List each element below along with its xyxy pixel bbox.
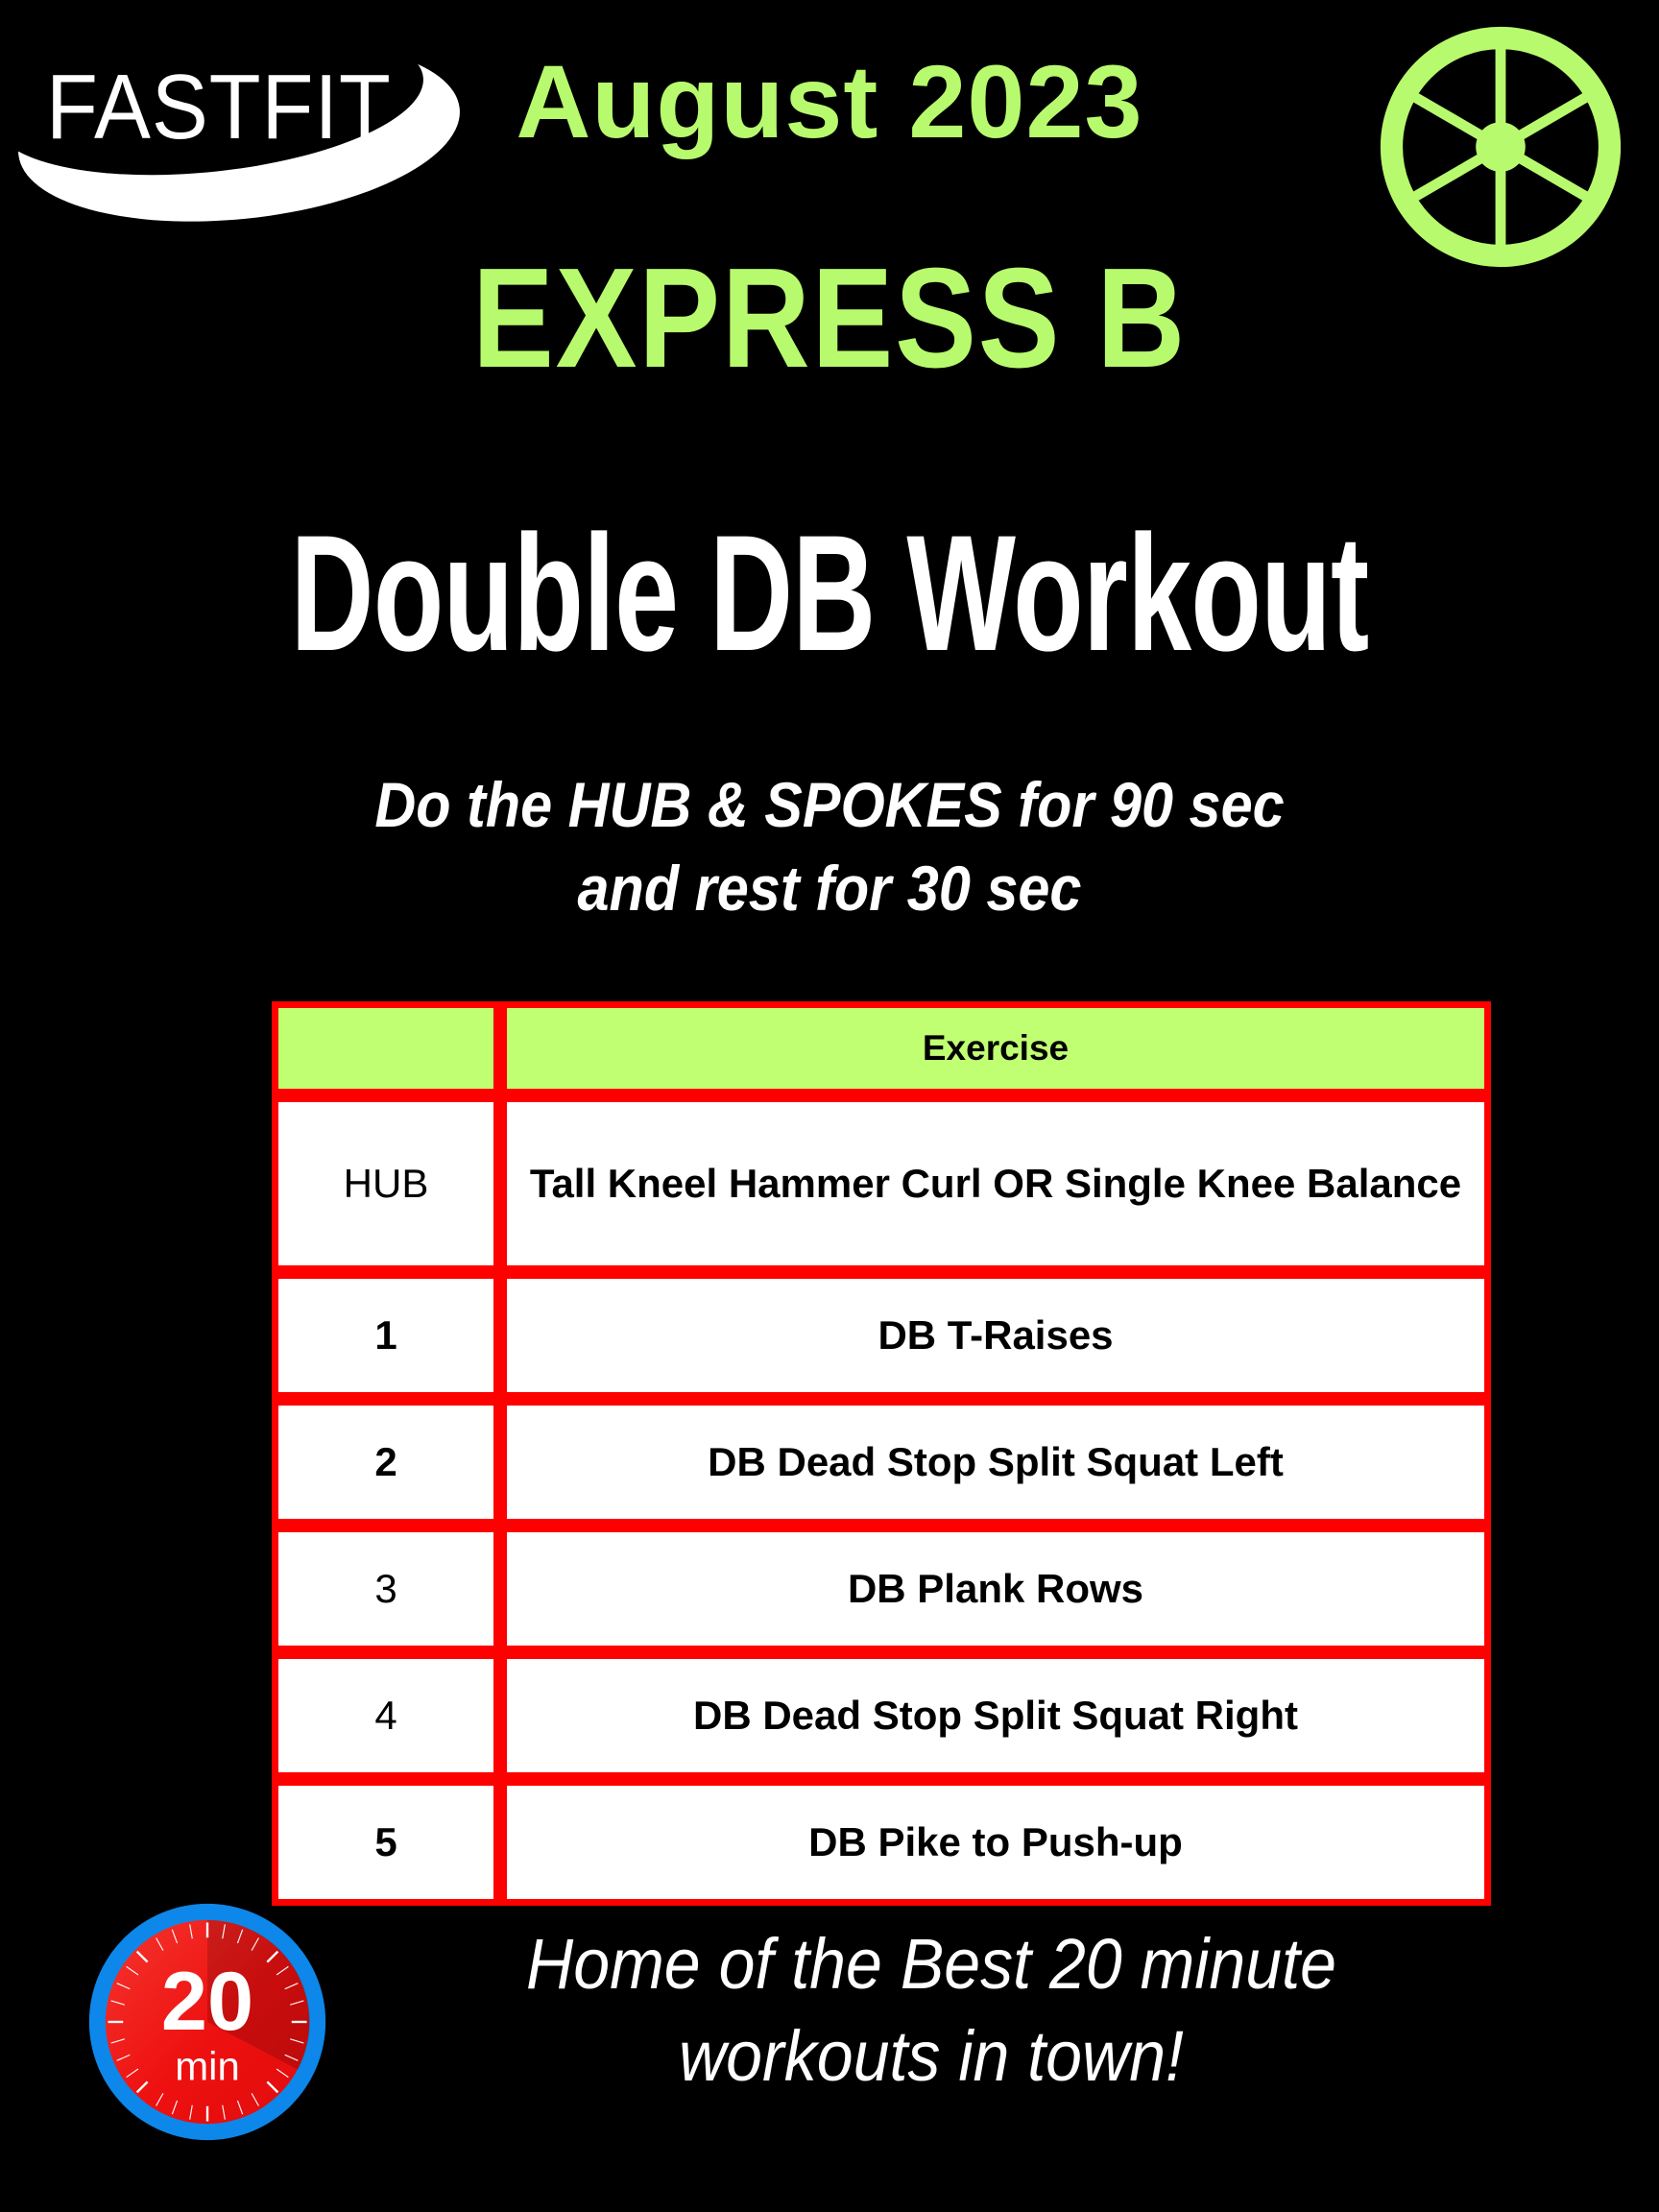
- row-exercise: Tall Kneel Hammer Curl OR Single Knee Ba…: [500, 1095, 1491, 1272]
- row-exercise: DB Plank Rows: [500, 1526, 1491, 1652]
- column-header-exercise: Exercise: [500, 1001, 1491, 1095]
- table-row: 3 DB Plank Rows: [272, 1526, 1491, 1652]
- badge-unit: min: [175, 2043, 240, 2088]
- footer-line-1: Home of the Best 20 minute: [410, 1918, 1453, 2010]
- instructions-text: Do the HUB & SPOKES for 90 sec and rest …: [83, 763, 1575, 930]
- column-header-number: [272, 1001, 500, 1095]
- workout-poster: FASTFIT August 2023 EXPRESS B Double DB …: [0, 0, 1659, 2212]
- program-heading: EXPRESS B: [116, 248, 1543, 390]
- row-number: 5: [272, 1779, 500, 1906]
- row-exercise: DB Dead Stop Split Squat Left: [500, 1399, 1491, 1526]
- logo-wordmark: FASTFIT: [46, 61, 392, 154]
- row-number: 4: [272, 1652, 500, 1779]
- row-exercise: DB Dead Stop Split Squat Right: [500, 1652, 1491, 1779]
- table-row: 1 DB T-Raises: [272, 1272, 1491, 1399]
- workout-table: Exercise HUB Tall Kneel Hammer Curl OR S…: [272, 1001, 1491, 1906]
- table-row: 5 DB Pike to Push-up: [272, 1779, 1491, 1906]
- footer-line-2: workouts in town!: [410, 2010, 1453, 2103]
- row-number: 2: [272, 1399, 500, 1526]
- table-body: HUB Tall Kneel Hammer Curl OR Single Kne…: [272, 1095, 1491, 1906]
- instructions-line-2: and rest for 30 sec: [83, 847, 1575, 930]
- stopwatch-icon: 20 min: [82, 1896, 333, 2148]
- table-header-row: Exercise: [272, 1001, 1491, 1095]
- table-head: Exercise: [272, 1001, 1491, 1095]
- row-number: 1: [272, 1272, 500, 1399]
- table-row: HUB Tall Kneel Hammer Curl OR Single Kne…: [272, 1095, 1491, 1272]
- workout-table-wrap: Exercise HUB Tall Kneel Hammer Curl OR S…: [272, 1001, 1491, 1906]
- table-row: 4 DB Dead Stop Split Squat Right: [272, 1652, 1491, 1779]
- table-row: 2 DB Dead Stop Split Squat Left: [272, 1399, 1491, 1526]
- badge-value: 20: [161, 1956, 253, 2048]
- row-number: 3: [272, 1526, 500, 1652]
- row-exercise: DB T-Raises: [500, 1272, 1491, 1399]
- page-title: Double DB Workout: [249, 511, 1410, 676]
- row-exercise: DB Pike to Push-up: [500, 1779, 1491, 1906]
- instructions-line-1: Do the HUB & SPOKES for 90 sec: [83, 763, 1575, 847]
- row-number: HUB: [272, 1095, 500, 1272]
- footer-tagline: Home of the Best 20 minute workouts in t…: [410, 1918, 1453, 2103]
